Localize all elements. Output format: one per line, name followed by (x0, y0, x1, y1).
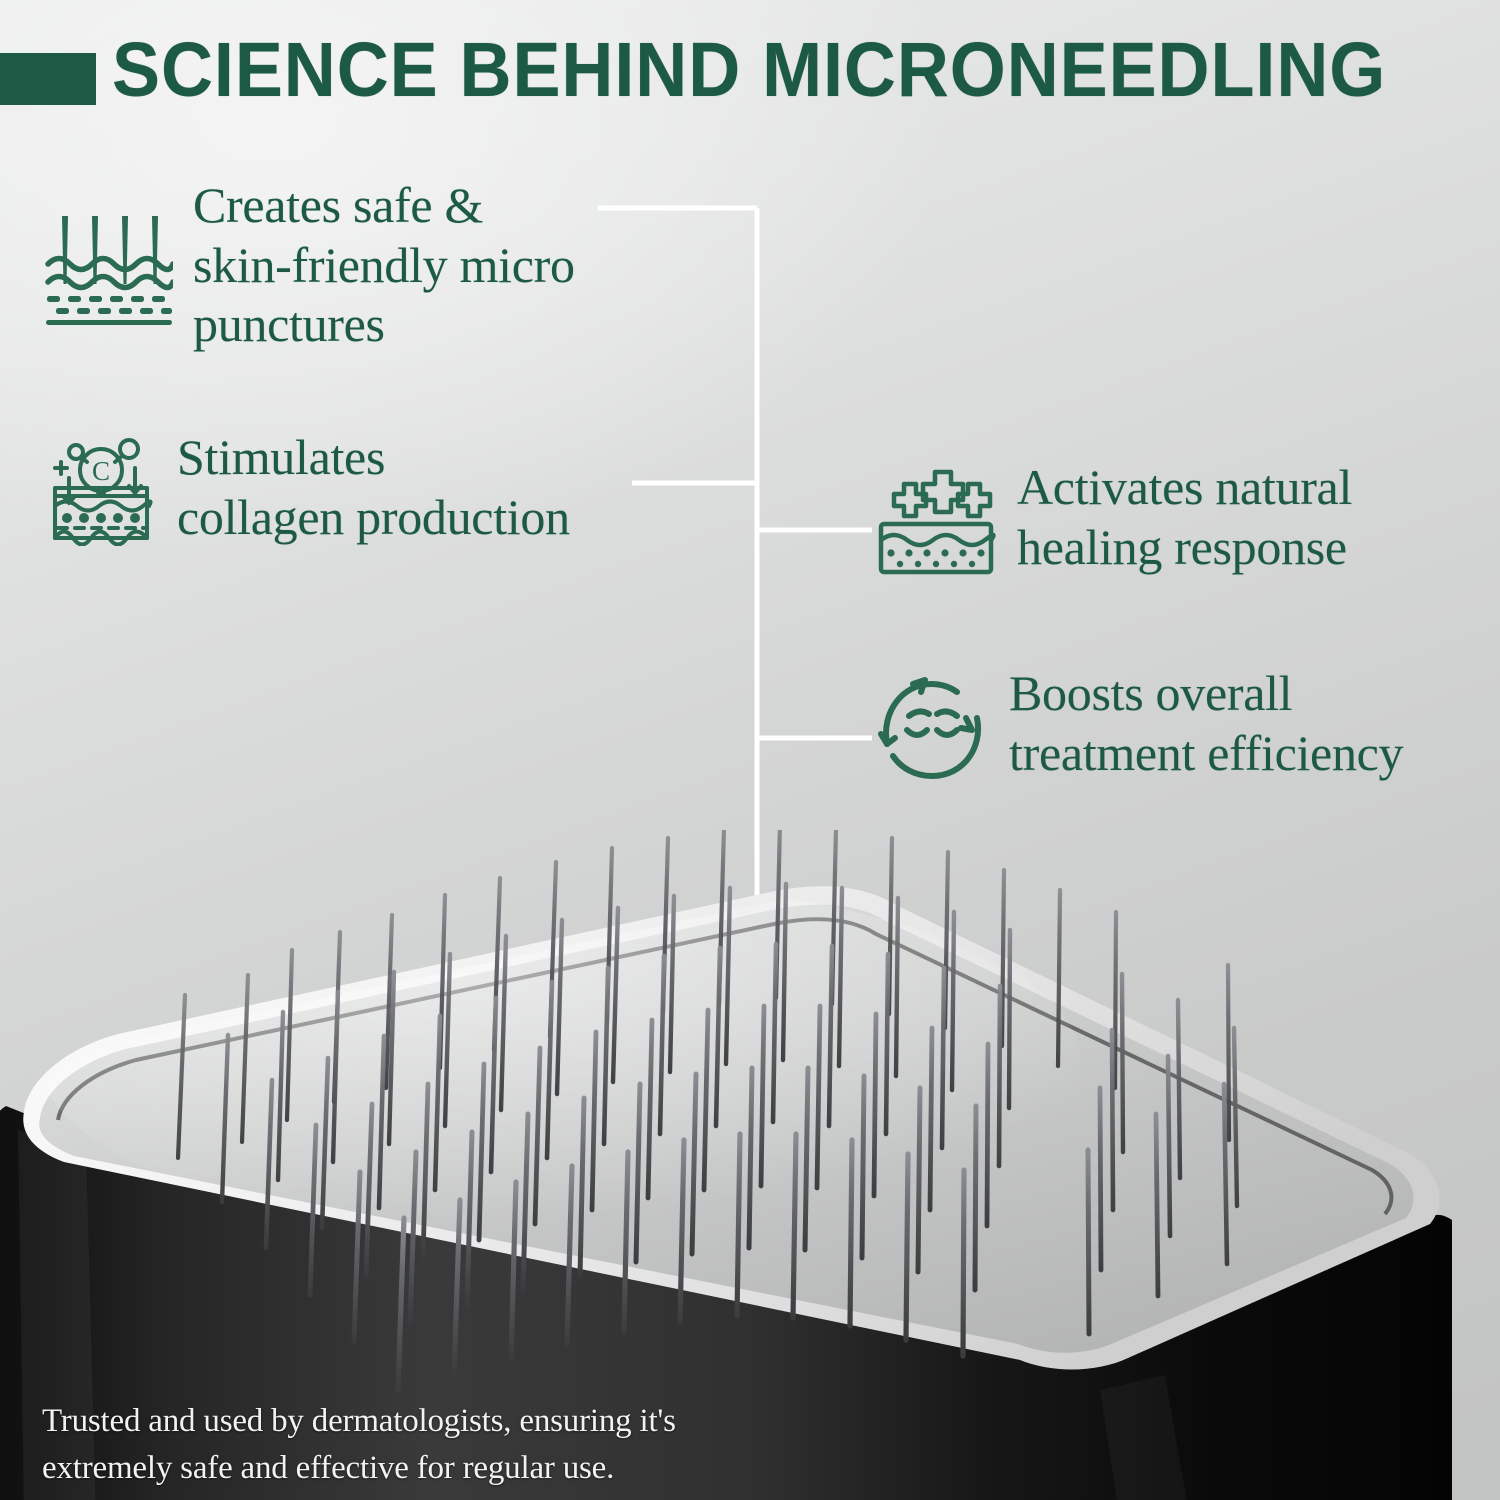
svg-text:C: C (92, 456, 110, 486)
feature-item-efficiency: Boosts overall treatment efficiency (875, 664, 1403, 786)
feature-item-punctures: Creates safe & skin-friendly micro punct… (45, 176, 575, 355)
bottom-caption: Trusted and used by dermatologists, ensu… (42, 1398, 742, 1492)
feature-item-collagen: C Stimulates collagen production (45, 428, 570, 547)
feature-label-collagen: Stimulates collagen production (177, 428, 570, 547)
title-accent-bar (0, 53, 96, 105)
infographic-root: SCIENCE BEHIND MICRONEEDLING (0, 0, 1500, 1500)
needles-in-skin-icon (45, 214, 173, 326)
medical-cross-skin-icon (875, 468, 997, 576)
feature-label-punctures: Creates safe & skin-friendly micro punct… (193, 176, 575, 355)
face-refresh-arrows-icon (875, 672, 989, 786)
feature-label-efficiency: Boosts overall treatment efficiency (1009, 664, 1403, 783)
collagen-molecule-skin-icon: C (45, 434, 157, 546)
feature-label-healing: Activates natural healing response (1017, 458, 1352, 577)
page-title: SCIENCE BEHIND MICRONEEDLING (112, 32, 1386, 109)
feature-item-healing: Activates natural healing response (875, 458, 1352, 577)
